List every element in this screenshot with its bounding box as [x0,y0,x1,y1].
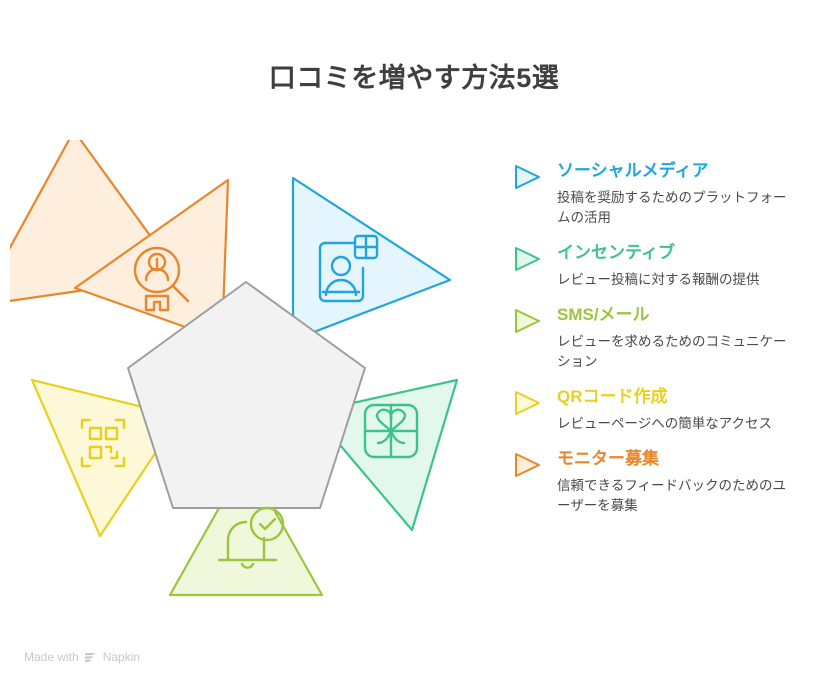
napkin-watermark: Made with Napkin [24,650,140,664]
triangle-right-icon [512,307,542,335]
legend-description: 信頼できるフィードバックのためのユーザーを募集 [557,476,797,516]
made-with-label: Made with [24,650,79,664]
legend-description: レビュー投稿に対する報酬の提供 [557,270,797,290]
legend-description: レビューページへの簡単なアクセス [557,414,797,434]
legend-item-qr-code[interactable]: QRコード作成 レビューページへの簡単なアクセス [512,386,812,434]
napkin-logo-icon [84,651,98,664]
legend-title: インセンティブ [557,242,812,264]
legend-item-monitor[interactable]: モニター募集 信頼できるフィードバックのためのユーザーを募集 [512,448,812,516]
legend-item-social-media[interactable]: ソーシャルメディア 投稿を奨励するためのプラットフォームの活用 [512,160,812,228]
legend-list: ソーシャルメディア 投稿を奨励するためのプラットフォームの活用 インセンティブ … [512,160,812,530]
pentagon-diagram [10,140,500,620]
triangle-right-icon [512,451,542,479]
page-title: 口コミを増やす方法5選 [0,56,828,95]
legend-item-sms-email[interactable]: SMS/メール レビューを求めるためのコミュニケーション [512,304,812,372]
legend-description: レビューを求めるためのコミュニケーション [557,332,797,372]
legend-title: ソーシャルメディア [557,160,812,182]
triangle-right-icon [512,389,542,417]
legend-title: QRコード作成 [557,386,812,408]
legend-description: 投稿を奨励するためのプラットフォームの活用 [557,188,797,228]
legend-title: SMS/メール [557,304,812,326]
legend-item-incentive[interactable]: インセンティブ レビュー投稿に対する報酬の提供 [512,242,812,290]
legend-title: モニター募集 [557,448,812,470]
infographic-page: 口コミを増やす方法5選 [0,0,828,684]
triangle-right-icon [512,245,542,273]
diagram-svg [10,140,500,620]
triangle-right-icon [512,163,542,191]
napkin-brand-label: Napkin [103,650,140,664]
